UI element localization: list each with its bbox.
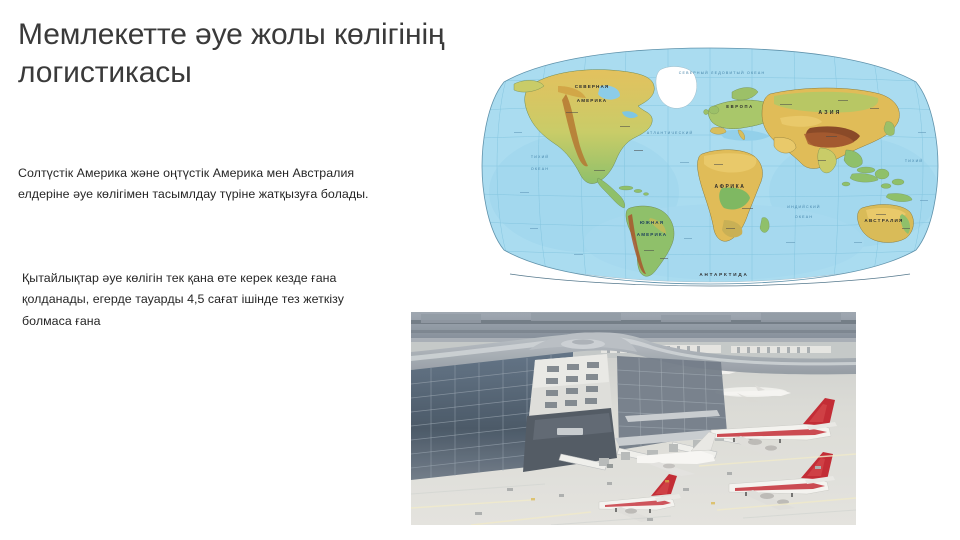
map-label: ТИХИЙ bbox=[531, 155, 549, 159]
map-label: ОКЕАН bbox=[795, 215, 813, 219]
map-label: ЕВРОПА bbox=[726, 104, 753, 109]
map-label: АТЛАНТИЧЕСКИЙ bbox=[647, 131, 694, 135]
slide-title: Мемлекетте әуе жолы көлігінің логистикас… bbox=[18, 16, 618, 93]
map-label: ТИХИЙ bbox=[905, 159, 923, 163]
body-paragraph-2: Қытайлықтар әуе көлігін тек қана өте кер… bbox=[22, 268, 462, 332]
body-paragraph-1: Солтүстік Америка және оңтүстік Америка … bbox=[18, 163, 470, 206]
map-label: АНТАРКТИДА bbox=[699, 272, 748, 277]
map-label: АМЕРИКА bbox=[637, 232, 667, 237]
map-label: АЗИЯ bbox=[818, 110, 841, 116]
airport-terminal-apron-photo bbox=[411, 312, 856, 525]
map-label: АВСТРАЛИЯ bbox=[864, 218, 903, 223]
map-label: АФРИКА bbox=[715, 184, 746, 190]
map-label: АМЕРИКА bbox=[577, 98, 607, 103]
map-label: СЕВЕРНЫЙ ЛЕДОВИТЫЙ ОКЕАН bbox=[679, 71, 766, 75]
map-label: ЮЖНАЯ bbox=[640, 220, 664, 225]
map-label: ИНДИЙСКИЙ bbox=[787, 205, 820, 209]
slide-canvas: СЕВЕРНАЯ АМЕРИКА ЮЖНАЯ АМЕРИКА АФРИКА ЕВ… bbox=[0, 0, 960, 540]
map-label: ОКЕАН bbox=[531, 167, 549, 171]
